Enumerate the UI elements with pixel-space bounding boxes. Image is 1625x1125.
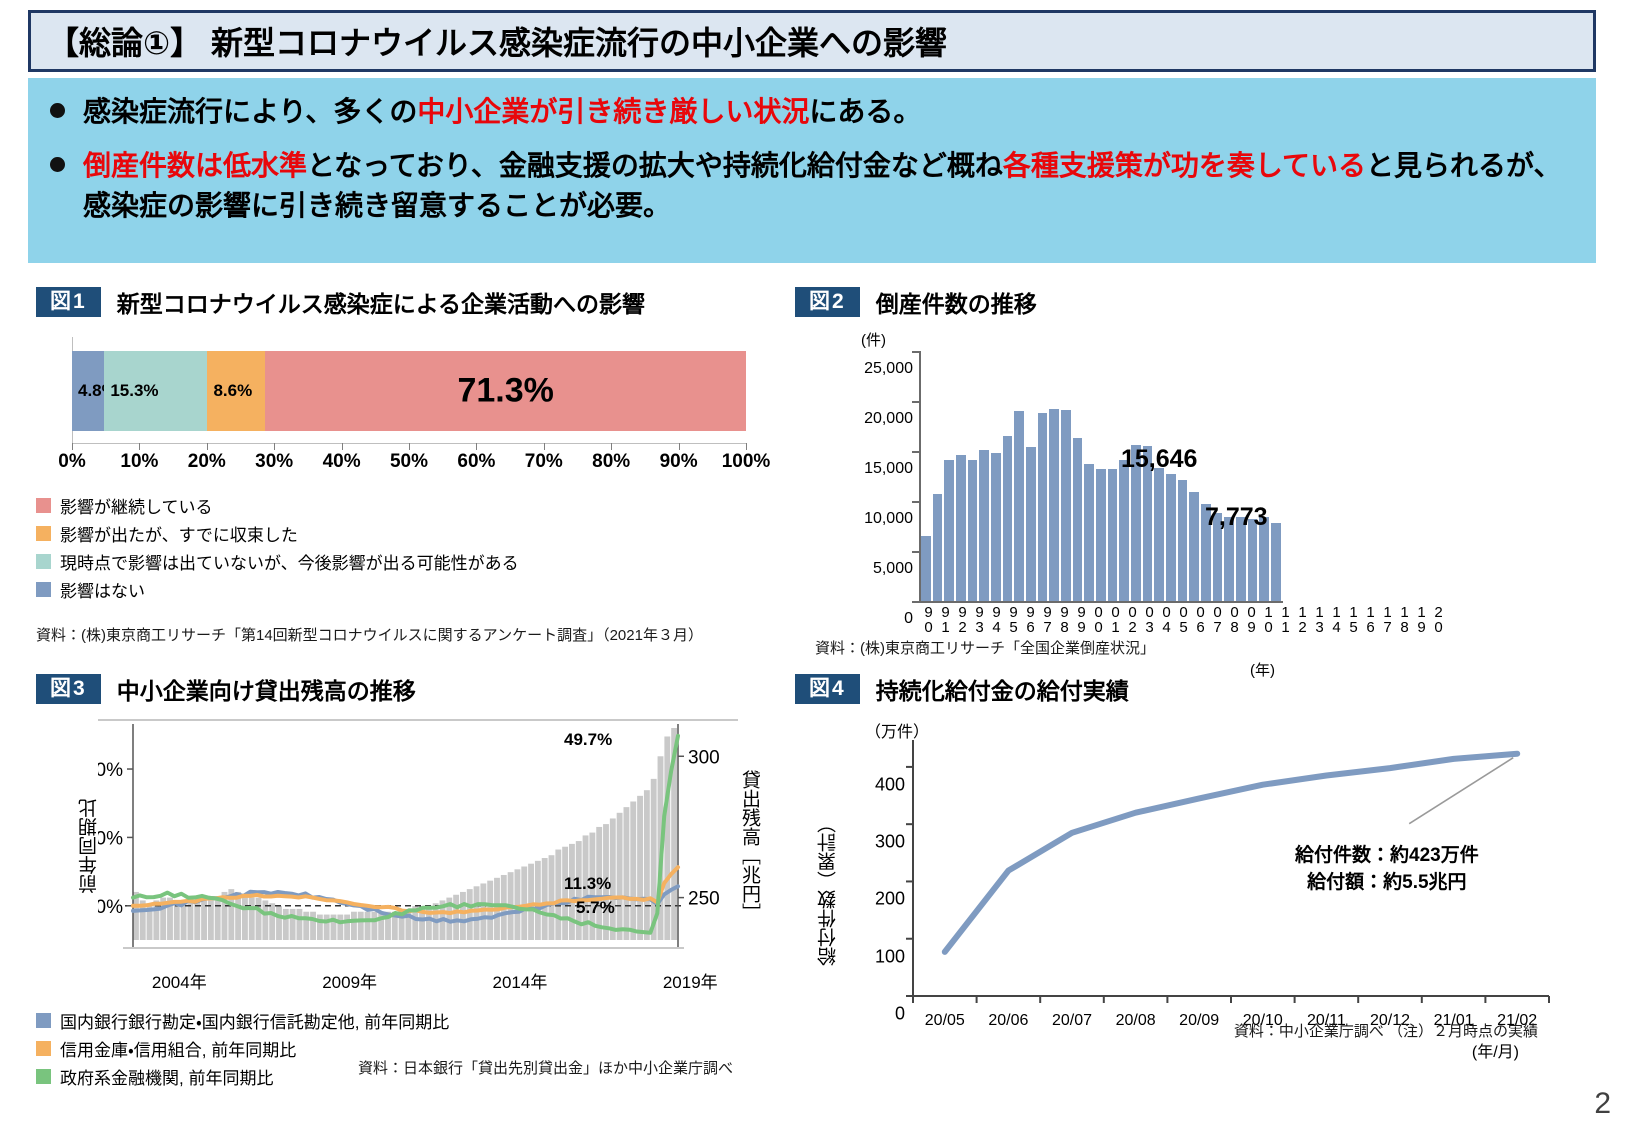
slide-root: 【総論①】 新型コロナウイルス感染症流行の中小企業への影響 感染症流行により、多… bbox=[0, 0, 1625, 1125]
figure-2-xtick-17: 17 bbox=[1380, 604, 1395, 634]
figure-2-xtick-96: 96 bbox=[1023, 604, 1038, 634]
svg-text:40%: 40% bbox=[98, 760, 123, 781]
figure-1-xtick-1: 10% bbox=[120, 451, 158, 473]
figure-4-panel: 図4 持続化給付金の給付実績 （万件） 給付件数（累計） 01002003004… bbox=[795, 672, 1600, 1072]
figure-1-panel: 図1 新型コロナウイルス感染症による企業活動への影響 4.8%15.3%8.6%… bbox=[36, 285, 776, 645]
figure-3-legend-label-2: 政府系金融機関, 前年同期比 bbox=[60, 1064, 273, 1089]
figure-2-bars bbox=[921, 351, 1281, 601]
figure-2-x-axis bbox=[919, 601, 1283, 603]
figure-2-xtick-11: 11 bbox=[1278, 604, 1293, 634]
svg-text:250: 250 bbox=[688, 889, 720, 910]
figure-2-ytick-2: 10,000 bbox=[864, 510, 913, 528]
figure-3-chart: 前年同期比 貸出残高［兆円］ 0%20%40%250300 2004年2009年… bbox=[36, 718, 776, 968]
figure-1-segment-1: 15.3% bbox=[104, 351, 207, 431]
figure-2-bar-01 bbox=[1049, 409, 1059, 601]
bullet-2-part-2: 各種支援策が功を奏している bbox=[1003, 150, 1366, 181]
figure-2-xtick-94: 94 bbox=[989, 604, 1004, 634]
figure-1-xtick-3: 30% bbox=[255, 451, 293, 473]
figure-4-header: 図4 持続化給付金の給付実績 bbox=[795, 672, 1600, 706]
figure-2-ytick-1: 5,000 bbox=[873, 560, 913, 578]
figure-2-bar-93 bbox=[956, 455, 966, 601]
figure-4-badge: 図4 bbox=[795, 674, 860, 704]
figure-3-annotation-shinkin: 11.3% bbox=[564, 874, 611, 894]
figure-2-bar-10 bbox=[1154, 468, 1164, 601]
figure-2-ytick-0: 0 bbox=[904, 610, 913, 628]
figure-3-y2-axis-title: 貸出残高［兆円］ bbox=[736, 770, 763, 922]
figure-4-annotation-line-2: 給付額：約5.5兆円 bbox=[1295, 867, 1479, 894]
figure-1-stacked-bar: 4.8%15.3%8.6%71.3% bbox=[72, 351, 746, 431]
figure-4-source: 資料：中小企業庁調べ （注）２月時点の実績 bbox=[1234, 1020, 1538, 1041]
figure-2-xtick-95: 95 bbox=[1006, 604, 1021, 634]
figure-2-bar-95 bbox=[979, 450, 989, 601]
figure-2-xtick-07: 07 bbox=[1210, 604, 1225, 634]
figure-2-xtick-10: 10 bbox=[1261, 604, 1276, 634]
figure-1-x-tick-labels: 0%10%20%30%40%50%60%70%80%90%100% bbox=[36, 451, 782, 477]
bullet-2-part-0: 倒産件数は低水準 bbox=[83, 150, 307, 181]
figure-2-bar-02 bbox=[1061, 410, 1071, 601]
bullet-dot-icon bbox=[50, 157, 65, 172]
figure-1-segment-2: 8.6% bbox=[207, 351, 265, 431]
figure-2-panel: 図2 倒産件数の推移 (件) 05,00010,00015,00020,0002… bbox=[795, 285, 1595, 660]
figure-3-annotation-bank: 5.7% bbox=[576, 898, 615, 918]
figure-3-source: 資料：日本銀行「貸出先別貸出金」ほか中小企業庁調べ bbox=[358, 1057, 733, 1078]
figure-2-bar-12 bbox=[1178, 480, 1188, 601]
figure-2-y-unit: (件) bbox=[861, 329, 886, 350]
figure-2-xtick-13: 13 bbox=[1312, 604, 1327, 634]
figure-2-xtick-20: 20 bbox=[1431, 604, 1446, 634]
figure-2-xtick-06: 06 bbox=[1193, 604, 1208, 634]
figure-2-bar-11 bbox=[1166, 474, 1176, 601]
figure-2-xtick-97: 97 bbox=[1040, 604, 1055, 634]
figure-2-xtick-05: 05 bbox=[1176, 604, 1191, 634]
figure-1-xtick-5: 50% bbox=[390, 451, 428, 473]
figure-3-annotation-gov: 49.7% bbox=[564, 730, 612, 750]
figure-1-legend: 影響が継続している影響が出たが、すでに収束した現時点で影響は出ていないが、今後影… bbox=[36, 493, 776, 602]
figure-1-badge: 図1 bbox=[36, 287, 101, 317]
figure-3-plot-area: 0%20%40%250300 bbox=[98, 718, 738, 968]
figure-2-xtick-01: 01 bbox=[1108, 604, 1123, 634]
figure-3-badge: 図3 bbox=[36, 674, 101, 704]
figure-2-xtick-14: 14 bbox=[1329, 604, 1344, 634]
figure-1-legend-label-3: 影響はない bbox=[60, 577, 145, 602]
figure-2-xtick-91: 91 bbox=[938, 604, 953, 634]
bullet-item: 倒産件数は低水準となっており、金融支援の拡大や持続化給付金など概ね各種支援策が功… bbox=[50, 146, 1576, 226]
figure-2-xtick-15: 15 bbox=[1346, 604, 1361, 634]
figure-2-xtick-02: 02 bbox=[1125, 604, 1140, 634]
figure-2-xtick-03: 03 bbox=[1142, 604, 1157, 634]
figure-2-ytick-5: 25,000 bbox=[864, 360, 913, 378]
figure-2-bar-92 bbox=[944, 460, 954, 601]
bullet-text-1: 感染症流行により、多くの中小企業が引き続き厳しい状況にある。 bbox=[83, 92, 921, 132]
figure-2-annotation-latest: 7,773 bbox=[1205, 503, 1268, 532]
figure-2-bar-96 bbox=[991, 453, 1001, 601]
figure-2-header: 図2 倒産件数の推移 bbox=[795, 285, 1595, 319]
figure-2-bar-06 bbox=[1108, 469, 1118, 601]
bullet-1-part-0: 感染症流行により、多くの bbox=[83, 96, 417, 127]
figure-2-bar-20 bbox=[1271, 523, 1281, 601]
figure-2-bar-03 bbox=[1073, 438, 1083, 601]
figure-1-xtick-4: 40% bbox=[323, 451, 361, 473]
figure-2-bar-05 bbox=[1096, 469, 1106, 601]
figure-3-xtick-3: 2019年 bbox=[663, 968, 718, 993]
figure-2-bar-91 bbox=[933, 494, 943, 601]
svg-text:300: 300 bbox=[688, 747, 720, 768]
figure-1-legend-item: 影響はない bbox=[36, 577, 776, 602]
legend-swatch-icon bbox=[36, 1069, 51, 1084]
figure-1-legend-label-1: 影響が出たが、すでに収束した bbox=[60, 521, 298, 546]
figure-1-segment-label-2: 8.6% bbox=[213, 381, 252, 401]
figure-2-xtick-00: 00 bbox=[1091, 604, 1106, 634]
figure-1-segment-0: 4.8% bbox=[72, 351, 104, 431]
figure-4-x-unit: (年/月) bbox=[1472, 1038, 1519, 1062]
figure-4-title: 持続化給付金の給付実績 bbox=[876, 672, 1129, 706]
figure-2-xtick-04: 04 bbox=[1159, 604, 1174, 634]
figure-1-xtick-8: 80% bbox=[592, 451, 630, 473]
figure-2-chart: (件) 05,00010,00015,00020,00025,000 90919… bbox=[795, 333, 1585, 633]
figure-2-bar-94 bbox=[968, 460, 978, 601]
figure-2-xtick-93: 93 bbox=[972, 604, 987, 634]
bullet-1-part-2: にある。 bbox=[809, 96, 921, 127]
figure-4-annotation: 給付件数：約423万件 給付額：約5.5兆円 bbox=[1295, 840, 1479, 894]
figure-2-ytick-4: 20,000 bbox=[864, 410, 913, 428]
figure-2-xtick-92: 92 bbox=[955, 604, 970, 634]
bullet-2-part-1: となっており、金融支援の拡大や持続化給付金など概ね bbox=[307, 150, 1003, 181]
figure-2-xtick-08: 08 bbox=[1227, 604, 1242, 634]
figure-4-xtick-20/08: 20/08 bbox=[1116, 1012, 1156, 1030]
legend-swatch-icon bbox=[36, 526, 51, 541]
page-number: 2 bbox=[1594, 1087, 1611, 1121]
bullet-dot-icon bbox=[50, 103, 65, 118]
figure-2-badge: 図2 bbox=[795, 287, 860, 317]
page-title: 【総論①】 新型コロナウイルス感染症流行の中小企業への影響 bbox=[31, 18, 947, 64]
figure-3-xtick-0: 2004年 bbox=[152, 968, 207, 993]
figure-3-x-tick-labels: 2004年2009年2014年2019年 bbox=[98, 968, 738, 996]
figure-1-xtick-7: 70% bbox=[525, 451, 563, 473]
figure-1-legend-item: 影響が出たが、すでに収束した bbox=[36, 521, 776, 546]
summary-bullet-band: 感染症流行により、多くの中小企業が引き続き厳しい状況にある。 倒産件数は低水準と… bbox=[28, 78, 1596, 263]
figure-1-legend-label-0: 影響が継続している bbox=[60, 493, 213, 518]
figure-2-xtick-99: 99 bbox=[1074, 604, 1089, 634]
figure-4-xtick-20/06: 20/06 bbox=[988, 1012, 1028, 1030]
figure-1-xtick-10: 100% bbox=[722, 451, 771, 473]
figure-1-header: 図1 新型コロナウイルス感染症による企業活動への影響 bbox=[36, 285, 776, 319]
figure-2-xtick-90: 90 bbox=[921, 604, 936, 634]
figure-3-header: 図3 中小企業向け貸出残高の推移 bbox=[36, 672, 781, 706]
figure-1-segment-3: 71.3% bbox=[265, 351, 746, 431]
figure-3-legend-label-0: 国内銀行銀行勘定・国内銀行信託勘定他, 前年同期比 bbox=[60, 1008, 449, 1033]
figure-2-xtick-09: 09 bbox=[1244, 604, 1259, 634]
figure-4-xtick-20/07: 20/07 bbox=[1052, 1012, 1092, 1030]
figure-3-panel: 図3 中小企業向け貸出残高の推移 前年同期比 貸出残高［兆円］ 0%20%40%… bbox=[36, 672, 781, 1092]
figure-2-source: 資料：(株)東京商工リサーチ「全国企業倒産状況」 bbox=[815, 637, 1155, 658]
figure-1-legend-item: 影響が継続している bbox=[36, 493, 776, 518]
figure-1-segment-label-3: 71.3% bbox=[457, 372, 553, 411]
figure-1-title: 新型コロナウイルス感染症による企業活動への影響 bbox=[117, 285, 645, 319]
figure-1-legend-item: 現時点で影響は出ていないが、今後影響が出る可能性がある bbox=[36, 549, 776, 574]
figure-3-legend-item: 国内銀行銀行勘定・国内銀行信託勘定他, 前年同期比 bbox=[36, 1008, 781, 1033]
figure-1-xtick-6: 60% bbox=[457, 451, 495, 473]
figure-2-bar-90 bbox=[921, 536, 931, 601]
figure-2-bar-97 bbox=[1003, 436, 1013, 601]
figure-1-legend-label-2: 現時点で影響は出ていないが、今後影響が出る可能性がある bbox=[60, 549, 519, 574]
figure-1-source: 資料：(株)東京商工リサーチ「第14回新型コロナウイルスに関するアンケート調査」… bbox=[36, 624, 776, 645]
figure-1-xtick-2: 20% bbox=[188, 451, 226, 473]
figure-1-chart: 4.8%15.3%8.6%71.3% 0%10%20%30%40%50%60%7… bbox=[36, 337, 746, 457]
legend-swatch-icon bbox=[36, 498, 51, 513]
figure-2-xtick-16: 16 bbox=[1363, 604, 1378, 634]
bullet-text-2: 倒産件数は低水準となっており、金融支援の拡大や持続化給付金など概ね各種支援策が功… bbox=[83, 146, 1576, 226]
figure-4-annotation-line-1: 給付件数：約423万件 bbox=[1295, 840, 1479, 867]
figure-2-xtick-18: 18 bbox=[1397, 604, 1412, 634]
figure-2-ytick-3: 15,000 bbox=[864, 460, 913, 478]
bullet-item: 感染症流行により、多くの中小企業が引き続き厳しい状況にある。 bbox=[50, 92, 1576, 132]
figure-3-xtick-1: 2009年 bbox=[322, 968, 377, 993]
figure-3-xtick-2: 2014年 bbox=[493, 968, 548, 993]
svg-text:0%: 0% bbox=[98, 897, 123, 918]
figure-4-chart: （万件） 給付件数（累計） 0100200300400 20/0520/0620… bbox=[795, 720, 1595, 1030]
bullet-1-part-1: 中小企業が引き続き厳しい状況 bbox=[417, 96, 809, 127]
legend-swatch-icon bbox=[36, 1041, 51, 1056]
figure-1-x-ticks bbox=[72, 443, 746, 451]
figure-2-bar-00 bbox=[1038, 413, 1048, 601]
figure-3-legend-label-1: 信用金庫・信用組合, 前年同期比 bbox=[60, 1036, 296, 1061]
svg-text:20%: 20% bbox=[98, 828, 123, 849]
figure-2-bar-99 bbox=[1026, 447, 1036, 601]
figure-2-xtick-98: 98 bbox=[1057, 604, 1072, 634]
figure-2-title: 倒産件数の推移 bbox=[876, 285, 1037, 319]
figure-1-segment-label-1: 15.3% bbox=[110, 381, 158, 401]
figure-2-annotation-peak: 15,646 bbox=[1121, 445, 1197, 474]
legend-swatch-icon bbox=[36, 1013, 51, 1028]
figure-2-bar-98 bbox=[1014, 411, 1024, 601]
figure-2-x-tick-labels: 9091929394959697989900010203040506070809… bbox=[921, 604, 1281, 634]
figure-1-xtick-9: 90% bbox=[660, 451, 698, 473]
figure-2-bar-07 bbox=[1119, 460, 1129, 601]
figure-2-bar-04 bbox=[1084, 464, 1094, 601]
legend-swatch-icon bbox=[36, 554, 51, 569]
figure-4-xtick-20/09: 20/09 bbox=[1179, 1012, 1219, 1030]
figure-2-bar-13 bbox=[1189, 492, 1199, 601]
figure-2-xtick-12: 12 bbox=[1295, 604, 1310, 634]
slide-title-box: 【総論①】 新型コロナウイルス感染症流行の中小企業への影響 bbox=[28, 10, 1596, 72]
figure-4-xtick-20/05: 20/05 bbox=[925, 1012, 965, 1030]
figure-2-y-tick-labels: 05,00010,00015,00020,00025,000 bbox=[795, 351, 913, 601]
legend-swatch-icon bbox=[36, 582, 51, 597]
figure-1-xtick-0: 0% bbox=[58, 451, 85, 473]
figure-2-xtick-19: 19 bbox=[1414, 604, 1429, 634]
figure-3-title: 中小企業向け貸出残高の推移 bbox=[117, 672, 416, 706]
